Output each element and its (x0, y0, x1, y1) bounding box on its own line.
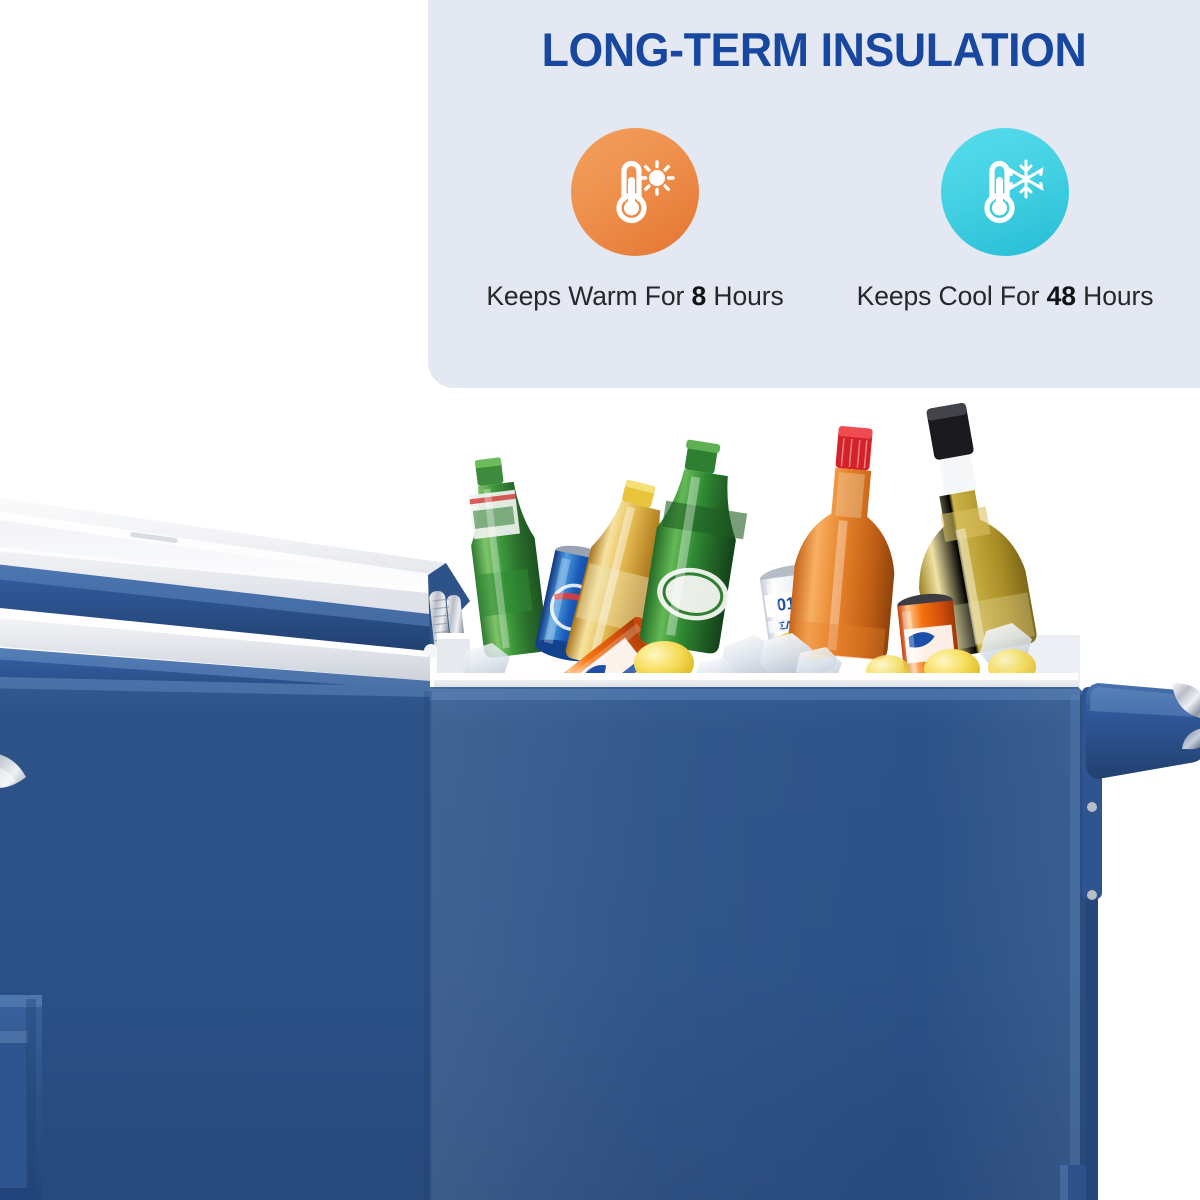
feature-caption-warm: Keeps Warm For 8 Hours (486, 280, 783, 312)
feature-list: Keeps Warm For 8 Hours (450, 128, 1190, 312)
caption-prefix-warm: Keeps Warm For (486, 281, 684, 311)
caption-value-warm: 8 (692, 281, 707, 311)
feature-keeps-warm: Keeps Warm For 8 Hours (470, 128, 800, 312)
feature-keeps-cool: Keeps Cool For 48 Hours (840, 128, 1170, 312)
thermometer-sun-icon (571, 128, 699, 256)
green-beer-bottle (461, 454, 549, 658)
insulation-info-panel: LONG-TERM INSULATION (428, 0, 1200, 388)
cooler-side-handle (1082, 683, 1200, 1200)
caption-suffix-warm: Hours (713, 281, 783, 311)
product-marketing-image: 0101 ΣΛΙΧΤΟ (0, 0, 1200, 1200)
green-bottle (639, 437, 757, 656)
page-title: LONG-TERM INSULATION (447, 22, 1180, 78)
feature-caption-cool: Keeps Cool For 48 Hours (857, 280, 1154, 312)
caption-prefix-cool: Keeps Cool For (857, 281, 1040, 311)
lower-shelf (0, 995, 42, 1200)
thermometer-snowflake-icon (941, 128, 1069, 256)
amber-liquor-bottle (787, 423, 907, 661)
product-photo-cooler-cart: 0101 ΣΛΙΧΤΟ (0, 395, 1200, 1200)
cart-leg-right (1060, 1165, 1086, 1200)
caption-suffix-cool: Hours (1083, 281, 1153, 311)
cooler-body (0, 673, 1086, 1200)
caption-value-cool: 48 (1047, 281, 1076, 311)
